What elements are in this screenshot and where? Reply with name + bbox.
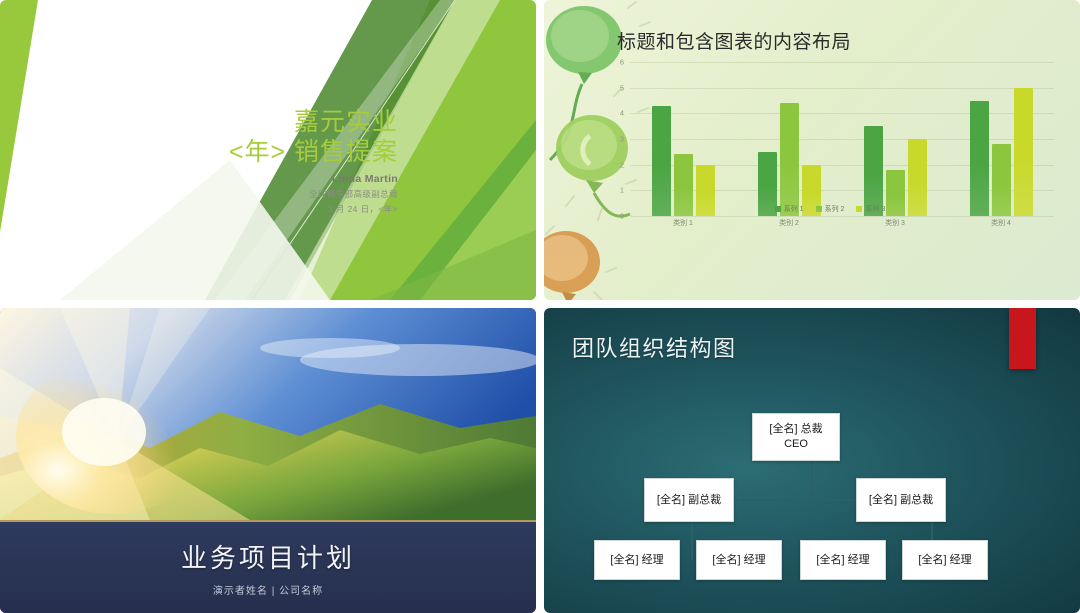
slide-org-page[interactable]: 团队组织结构图 [全名] 总裁 CEO [全名] 副总裁 [	[544, 308, 1080, 613]
org-chart: [全名] 总裁 CEO [全名] 副总裁 [全名] 副总裁 [全名] 经理 [全…	[544, 308, 1080, 613]
bar[interactable]	[1014, 88, 1033, 216]
slide-title-page[interactable]: 嘉元实业 <年> 销售提案 Linda Martin 全球销售部高级副总裁 3 …	[0, 0, 536, 300]
legend-swatch	[775, 206, 781, 212]
chart-title: 标题和包含图表的内容布局	[617, 27, 851, 54]
org-node-manager-2[interactable]: [全名] 经理	[696, 540, 782, 580]
legend-item[interactable]: 系列 3	[856, 204, 885, 214]
presentation-date: 3 月 24 日，<年>	[98, 203, 398, 215]
y-axis-tick: 1	[620, 186, 624, 195]
bar-group	[864, 62, 927, 216]
y-axis-tick: 2	[620, 160, 624, 169]
org-node-manager-3[interactable]: [全名] 经理	[800, 540, 886, 580]
org-node-manager-1-label: [全名] 经理	[610, 553, 663, 568]
org-node-ceo-line1: [全名] 总裁	[769, 422, 822, 437]
legend-item[interactable]: 系列 1	[775, 204, 804, 214]
x-axis-category-label: 类别 3	[860, 218, 930, 232]
org-node-vp-left-label: [全名] 副总裁	[657, 493, 721, 508]
bar[interactable]	[970, 101, 989, 217]
y-axis-tick: 6	[620, 58, 624, 67]
org-node-vp-left[interactable]: [全名] 副总裁	[644, 478, 734, 522]
legend-swatch	[856, 206, 862, 212]
org-node-vp-right[interactable]: [全名] 副总裁	[856, 478, 946, 522]
presenter-name: Linda Martin	[98, 173, 398, 185]
legend-item[interactable]: 系列 2	[816, 204, 845, 214]
y-axis-tick: 3	[620, 135, 624, 144]
legend-label: 系列 3	[865, 204, 885, 214]
landscape-photo	[0, 308, 536, 520]
photo-slide-subtitle: 演示者姓名 | 公司名称	[213, 582, 323, 597]
photo-slide-title: 业务项目计划	[181, 538, 355, 575]
bar-group	[652, 62, 715, 216]
slide-photo-page[interactable]: 业务项目计划 演示者姓名 | 公司名称	[0, 308, 536, 613]
bar-group	[970, 62, 1033, 216]
bar[interactable]	[652, 106, 671, 216]
chart-legend: 系列 1系列 2系列 3	[606, 204, 1054, 214]
org-node-vp-right-label: [全名] 副总裁	[869, 493, 933, 508]
deck-title-line2: <年> 销售提案	[98, 138, 398, 168]
bar[interactable]	[864, 126, 883, 216]
y-axis: 0123456	[606, 62, 628, 216]
org-node-ceo-line2: CEO	[784, 437, 808, 452]
org-node-ceo[interactable]: [全名] 总裁 CEO	[752, 413, 840, 461]
x-axis-labels: 类别 1类别 2类别 3类别 4	[630, 218, 1054, 232]
org-node-manager-1[interactable]: [全名] 经理	[594, 540, 680, 580]
photo-caption-band: 业务项目计划 演示者姓名 | 公司名称	[0, 522, 536, 613]
org-node-manager-4[interactable]: [全名] 经理	[902, 540, 988, 580]
x-axis-category-label: 类别 1	[648, 218, 718, 232]
bar[interactable]	[780, 103, 799, 216]
x-axis-category-label: 类别 2	[754, 218, 824, 232]
slide-chart-page[interactable]: 标题和包含图表的内容布局 0123456 类别 1类别 2类别 3类别 4 系列…	[544, 0, 1080, 300]
slide-grid: 嘉元实业 <年> 销售提案 Linda Martin 全球销售部高级副总裁 3 …	[0, 0, 1080, 613]
bar-chart: 0123456 类别 1类别 2类别 3类别 4 系列 1系列 2系列 3	[606, 62, 1054, 238]
y-axis-tick: 5	[620, 83, 624, 92]
legend-label: 系列 2	[825, 204, 845, 214]
title-text-block: 嘉元实业 <年> 销售提案 Linda Martin 全球销售部高级副总裁 3 …	[98, 108, 398, 215]
org-node-manager-3-label: [全名] 经理	[816, 553, 869, 568]
presenter-role: 全球销售部高级副总裁	[98, 188, 398, 200]
legend-swatch	[816, 206, 822, 212]
org-node-manager-2-label: [全名] 经理	[712, 553, 765, 568]
plot-area	[630, 62, 1054, 216]
org-node-manager-4-label: [全名] 经理	[918, 553, 971, 568]
x-axis-category-label: 类别 4	[966, 218, 1036, 232]
gridline	[630, 216, 1054, 217]
bar-group	[758, 62, 821, 216]
deck-title-line1: 嘉元实业	[98, 108, 398, 138]
bar-series-container	[630, 62, 1054, 216]
legend-label: 系列 1	[784, 204, 804, 214]
y-axis-tick: 4	[620, 109, 624, 118]
